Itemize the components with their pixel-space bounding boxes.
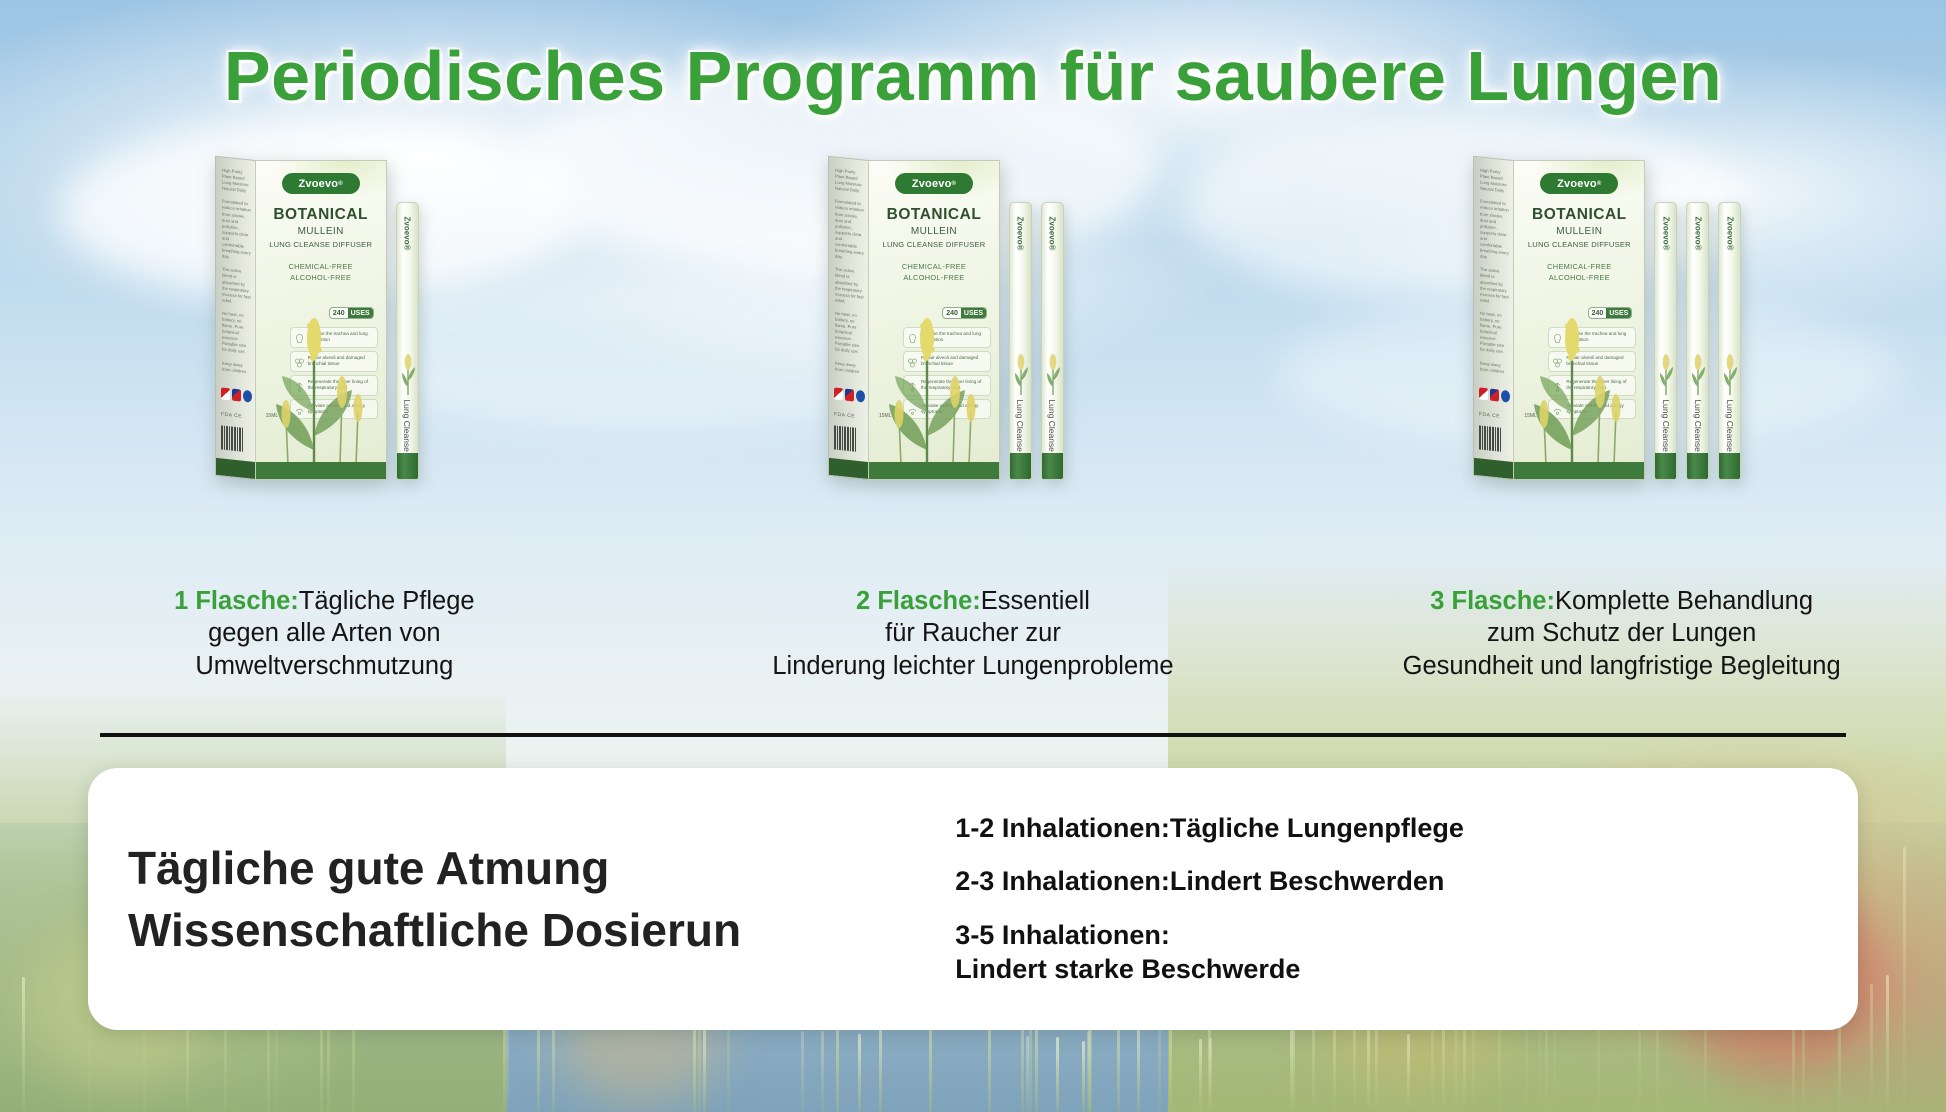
stick-cap xyxy=(1687,453,1708,479)
carton-side-paragraph: No heat, no battery, no flame. Pure bota… xyxy=(835,310,864,356)
carton-side-panel: High Purity Plant Based Lung Moisture Na… xyxy=(828,156,868,480)
dosage-label: 1-2 Inhalationen: xyxy=(955,813,1170,843)
dosage-value: Tägliche Lungenpflege xyxy=(1170,813,1464,843)
inhaler-stick[interactable]: Zvoevo®Lung Cleanse Diffuse xyxy=(396,202,419,480)
herb-sprig-icon xyxy=(400,353,417,395)
stick-brand-label: Zvoevo® xyxy=(403,217,412,251)
carton-side-paragraph: No heat, no battery, no flame. Pure bota… xyxy=(222,310,251,356)
pack-count-label: 2 Flasche: xyxy=(856,587,981,615)
dosage-item-1: 1-2 Inhalationen:Tägliche Lungenpflege xyxy=(955,812,1838,846)
herb-sprig-icon xyxy=(1658,353,1675,395)
grass-stalk xyxy=(1903,847,1906,1112)
dosage-value: Lindert Beschwerden xyxy=(1170,866,1445,896)
pack-caption-line-3: Umweltverschmutzung xyxy=(195,652,453,680)
barcode-bar xyxy=(847,427,849,451)
carton-side-panel: High Purity Plant Based Lung Moisture Na… xyxy=(215,156,255,480)
barcode-bar xyxy=(852,427,854,451)
product-subtitle: MULLEIN xyxy=(876,226,992,237)
product-type: LUNG CLEANSE DIFFUSER xyxy=(1521,240,1637,249)
product-carton[interactable]: High Purity Plant Based Lung Moisture Na… xyxy=(828,160,1000,480)
product-carton[interactable]: High Purity Plant Based Lung Moisture Na… xyxy=(215,160,387,480)
inhaler-stick[interactable]: Zvoevo®Lung Cleanse Diffuse xyxy=(1009,202,1032,480)
inhaler-stick[interactable]: Zvoevo®Lung Cleanse Diffuse xyxy=(1718,202,1741,480)
herb-sprig-icon xyxy=(1013,353,1030,395)
carton-footer-band xyxy=(1514,462,1644,479)
dosage-label: 2-3 Inhalationen: xyxy=(955,866,1170,896)
stick-herb-icon xyxy=(1658,353,1675,395)
carton-side-paragraph: Keep away from children xyxy=(1480,360,1509,375)
carton-side-paragraph: The active blend is absorbed by the resp… xyxy=(835,267,864,307)
grass-stalk xyxy=(1137,1028,1140,1112)
pack-caption-2: 2 Flasche:Essentiellfür Raucher zurLinde… xyxy=(662,585,1285,682)
pack-count-label: 3 Flasche: xyxy=(1430,587,1555,615)
plant-illustration xyxy=(1518,300,1626,465)
stick-brand-label: Zvoevo® xyxy=(1016,217,1025,251)
country-flags xyxy=(221,387,252,402)
barcode-bar xyxy=(1500,428,1502,452)
pack-caption-line-2: zum Schutz der Lungen xyxy=(1487,619,1756,647)
certification-marks: FDA CE xyxy=(1479,411,1500,419)
carton-side-paragraph: The active blend is absorbed by the resp… xyxy=(1480,267,1509,307)
flag-icon xyxy=(1479,387,1488,400)
barcode-bar xyxy=(241,428,243,452)
product-group-1-bottle[interactable]: High Purity Plant Based Lung Moisture Na… xyxy=(215,160,419,480)
panel-headline: Tägliche gute Atmung Wissenschaftliche D… xyxy=(88,837,955,961)
carton-footer-band xyxy=(869,462,999,479)
carton-side-paragraph: Formulated to reduce irritation from smo… xyxy=(222,199,251,263)
country-flags xyxy=(834,387,865,402)
barcode-bar xyxy=(842,426,844,450)
mullein-plant-illustration xyxy=(873,300,981,465)
herb-sprig-icon xyxy=(1722,353,1739,395)
stick-brand-label: Zvoevo® xyxy=(1725,217,1734,251)
carton-side-paragraph: High Purity Plant Based Lung Moisture Na… xyxy=(222,168,251,195)
grass-stalk xyxy=(1056,1037,1059,1112)
product-name: BOTANICAL xyxy=(1521,206,1637,224)
pack-caption-line-3: Linderung leichter Lungenprobleme xyxy=(772,652,1173,680)
product-group-row: High Purity Plant Based Lung Moisture Na… xyxy=(0,150,1946,480)
grass-stalk xyxy=(821,1031,824,1112)
barcode-bar xyxy=(837,426,839,450)
product-claims: CHEMICAL-FREEALCOHOL-FREE xyxy=(263,261,379,284)
mullein-plant-illustration xyxy=(260,300,368,465)
grass-stalk xyxy=(22,977,25,1112)
stick-herb-icon xyxy=(1013,353,1030,395)
grass-stalk xyxy=(801,1031,804,1112)
carton-side-text: High Purity Plant Based Lung Moisture Na… xyxy=(222,168,251,383)
grass-stalk xyxy=(1886,975,1889,1112)
dosage-list: 1-2 Inhalationen:Tägliche Lungenpflege2-… xyxy=(955,812,1858,987)
carton-side-text: High Purity Plant Based Lung Moisture Na… xyxy=(835,168,864,383)
carton-side-panel: High Purity Plant Based Lung Moisture Na… xyxy=(1473,156,1513,480)
carton-side-paragraph: Formulated to reduce irritation from smo… xyxy=(1480,199,1509,263)
carton-front-face: Zvoevo®BOTANICALMULLEINLUNG CLEANSE DIFF… xyxy=(255,160,387,480)
stick-brand-label: Zvoevo® xyxy=(1661,217,1670,251)
pack-caption-line-1: Komplette Behandlung xyxy=(1555,587,1813,615)
barcode-bar xyxy=(844,427,846,451)
carton-side-band xyxy=(829,458,868,479)
barcode-bar xyxy=(834,425,836,449)
inhaler-stick[interactable]: Zvoevo®Lung Cleanse Diffuse xyxy=(1654,202,1677,480)
product-claims: CHEMICAL-FREEALCOHOL-FREE xyxy=(876,261,992,284)
barcode-bar xyxy=(221,425,223,449)
stick-herb-icon xyxy=(1690,353,1707,395)
barcode-bar xyxy=(231,427,233,451)
barcode xyxy=(834,425,856,451)
carton-side-paragraph: Formulated to reduce irritation from smo… xyxy=(835,199,864,263)
grass-stalk xyxy=(703,1025,706,1112)
product-subtitle: MULLEIN xyxy=(1521,226,1637,237)
carton-side-paragraph: High Purity Plant Based Lung Moisture Na… xyxy=(1480,168,1509,195)
brand-logo: Zvoevo® xyxy=(895,173,973,194)
grass-stalk xyxy=(1087,1031,1090,1112)
dosage-item-3: 3-5 Inhalationen:Lindert starke Beschwer… xyxy=(955,919,1838,987)
grass-stalk xyxy=(1199,1039,1202,1112)
stick-cap xyxy=(1042,453,1063,479)
pack-caption-line-2: für Raucher zur xyxy=(885,619,1061,647)
pack-caption-line-1: Essentiell xyxy=(981,587,1090,615)
stick-brand-label: Zvoevo® xyxy=(1048,217,1057,251)
page-title: Periodisches Programm für saubere Lungen xyxy=(0,36,1946,116)
flag-icon xyxy=(221,387,230,400)
carton-footer-band xyxy=(256,462,386,479)
stick-cap xyxy=(1655,453,1676,479)
stick-cap xyxy=(397,453,418,479)
flag-icon xyxy=(834,387,843,400)
pack-caption-row: 1 Flasche:Tägliche Pflegegegen alle Arte… xyxy=(0,585,1946,682)
stick-herb-icon xyxy=(1722,353,1739,395)
dosage-panel: Tägliche gute Atmung Wissenschaftliche D… xyxy=(88,768,1858,1030)
barcode-bar xyxy=(855,428,857,452)
carton-side-paragraph: High Purity Plant Based Lung Moisture Na… xyxy=(835,168,864,195)
certification-marks: FDA CE xyxy=(834,411,855,419)
carton-side-paragraph: The active blend is absorbed by the resp… xyxy=(222,267,251,307)
flag-icon xyxy=(1501,390,1510,403)
carton-front-face: Zvoevo®BOTANICALMULLEINLUNG CLEANSE DIFF… xyxy=(868,160,1000,480)
headline-line-1: Tägliche gute Atmung xyxy=(128,837,955,899)
carton-front-face: Zvoevo®BOTANICALMULLEINLUNG CLEANSE DIFF… xyxy=(1513,160,1645,480)
barcode-bar xyxy=(223,426,225,450)
flag-icon xyxy=(243,390,252,403)
carton-side-paragraph: No heat, no battery, no flame. Pure bota… xyxy=(1480,310,1509,356)
headline-line-2: Wissenschaftliche Dosierun xyxy=(128,899,955,961)
grass-stalk xyxy=(879,1018,882,1112)
barcode-bar xyxy=(228,426,230,450)
product-type: LUNG CLEANSE DIFFUSER xyxy=(263,240,379,249)
barcode-bar xyxy=(226,426,228,450)
stick-cap xyxy=(1010,453,1031,479)
dosage-item-2: 2-3 Inhalationen:Lindert Beschwerden xyxy=(955,865,1838,899)
barcode-bar xyxy=(839,426,841,450)
carton-side-band xyxy=(1474,458,1513,479)
grass-stalk xyxy=(858,1034,861,1112)
certification-marks: FDA CE xyxy=(221,411,242,419)
stick-herb-icon xyxy=(1045,353,1062,395)
flag-icon xyxy=(1490,389,1499,402)
barcode xyxy=(1479,425,1501,451)
dosage-label: 3-5 Inhalationen: xyxy=(955,920,1170,950)
product-carton[interactable]: High Purity Plant Based Lung Moisture Na… xyxy=(1473,160,1645,480)
pack-count-label: 1 Flasche: xyxy=(174,587,299,615)
product-subtitle: MULLEIN xyxy=(263,226,379,237)
barcode-bar xyxy=(234,427,236,451)
grass-stalk xyxy=(1026,1036,1029,1112)
stick-herb-icon xyxy=(400,353,417,395)
plant-illustration xyxy=(260,300,368,465)
grass-stalk xyxy=(1082,1041,1085,1112)
section-divider xyxy=(100,733,1846,737)
product-type: LUNG CLEANSE DIFFUSER xyxy=(876,240,992,249)
product-claims: CHEMICAL-FREEALCOHOL-FREE xyxy=(1521,261,1637,284)
product-name: BOTANICAL xyxy=(263,206,379,224)
inhaler-stick[interactable]: Zvoevo®Lung Cleanse Diffuse xyxy=(1686,202,1709,480)
plant-illustration xyxy=(873,300,981,465)
mullein-plant-illustration xyxy=(1518,300,1626,465)
carton-side-paragraph: Keep away from children xyxy=(222,360,251,375)
inhaler-stick[interactable]: Zvoevo®Lung Cleanse Diffuse xyxy=(1041,202,1064,480)
herb-sprig-icon xyxy=(1690,353,1707,395)
pack-caption-line-2: gegen alle Arten von xyxy=(208,619,441,647)
flag-icon xyxy=(845,389,854,402)
carton-side-text: High Purity Plant Based Lung Moisture Na… xyxy=(1480,168,1509,383)
barcode xyxy=(221,425,243,451)
pack-caption-3: 3 Flasche:Komplette Behandlungzum Schutz… xyxy=(1310,585,1933,682)
pack-caption-line-1: Tägliche Pflege xyxy=(299,587,475,615)
product-group-3-bottle[interactable]: High Purity Plant Based Lung Moisture Na… xyxy=(1473,160,1741,480)
product-group-2-bottle[interactable]: High Purity Plant Based Lung Moisture Na… xyxy=(828,160,1064,480)
barcode-bar xyxy=(236,427,238,451)
brand-logo: Zvoevo® xyxy=(282,173,360,194)
brand-logo: Zvoevo® xyxy=(1540,173,1618,194)
product-name: BOTANICAL xyxy=(876,206,992,224)
grass-stalk xyxy=(1407,1034,1410,1112)
pack-caption-line-3: Gesundheit und langfristige Begleitung xyxy=(1403,652,1841,680)
dosage-value-line-2: Lindert starke Beschwerde xyxy=(955,953,1838,987)
pack-caption-1: 1 Flasche:Tägliche Pflegegegen alle Arte… xyxy=(13,585,636,682)
grass-stalk xyxy=(1209,1038,1212,1112)
carton-side-band xyxy=(216,458,255,479)
stick-brand-label: Zvoevo® xyxy=(1693,217,1702,251)
stick-cap xyxy=(1719,453,1740,479)
barcode-bar xyxy=(850,427,852,451)
country-flags xyxy=(1479,387,1510,402)
grass-stalk xyxy=(1870,984,1873,1112)
carton-side-paragraph: Keep away from children xyxy=(835,360,864,375)
flag-icon xyxy=(232,389,241,402)
herb-sprig-icon xyxy=(1045,353,1062,395)
flag-icon xyxy=(856,390,865,403)
barcode-bar xyxy=(239,427,241,451)
